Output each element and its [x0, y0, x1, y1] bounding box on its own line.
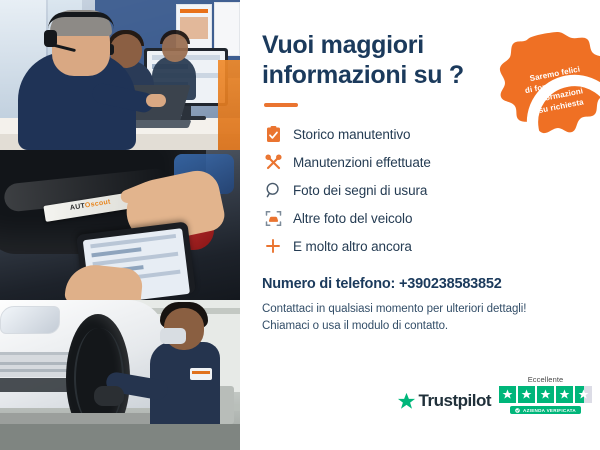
star-filled	[537, 386, 554, 403]
verified-business-badge: AZIENDA VERIFICATA	[510, 406, 581, 414]
phone-number[interactable]: +390238583852	[399, 276, 502, 292]
phone-label: Numero di telefono:	[262, 276, 395, 292]
car-scan-icon	[262, 210, 284, 227]
rating-label: Eccellente	[528, 375, 564, 384]
star-rating	[499, 386, 592, 403]
headline-line-2: informazioni su ?	[262, 61, 464, 89]
feature-label: Altre foto del veicolo	[293, 211, 412, 226]
star-filled	[499, 386, 516, 403]
trustpilot-brand-name: Trustpilot	[419, 391, 491, 411]
clipboard-check-icon	[262, 126, 284, 143]
title-underline-divider	[264, 103, 298, 107]
feature-label: E molto altro ancora	[293, 239, 412, 254]
feature-label: Storico manutentivo	[293, 127, 410, 142]
star-half	[575, 386, 592, 403]
star-filled	[518, 386, 535, 403]
photo-mechanic-inspecting-wheel-on-lift	[0, 300, 240, 450]
headlight	[0, 306, 60, 334]
crossed-tools-icon	[262, 154, 284, 171]
advertisement-card: AUTOscout	[0, 0, 600, 450]
photo-call-center-agents-with-headsets	[0, 0, 240, 150]
contact-subtext: Contattaci in qualsiasi momento per ulte…	[262, 301, 578, 335]
trustpilot-logo: Trustpilot	[397, 391, 491, 411]
photo-technician-measuring-car-bumper-with-tablet: AUTOscout	[0, 150, 240, 300]
workshop-floor	[0, 424, 240, 450]
content-panel: Vuoi maggiori informazioni su ? Saremo f…	[240, 0, 600, 450]
verified-label: AZIENDA VERIFICATA	[523, 408, 576, 413]
list-item: E molto altro ancora	[262, 232, 578, 260]
contact-subtext-line-2: Chiamaci o usa il modulo di contatto.	[262, 318, 578, 335]
magnifier-icon	[262, 182, 284, 198]
list-item: Altre foto del veicolo	[262, 204, 578, 232]
feature-label: Manutenzioni effettuate	[293, 155, 431, 170]
headline-line-1: Vuoi maggiori	[262, 31, 424, 59]
star-filled	[556, 386, 573, 403]
trustpilot-star-icon	[397, 392, 416, 411]
plus-icon	[262, 238, 284, 254]
contact-subtext-line-1: Contattaci in qualsiasi momento per ulte…	[262, 301, 578, 318]
trustpilot-widget[interactable]: Trustpilot Eccellente AZIENDA VERIFICA	[397, 375, 592, 414]
trustpilot-rating: Eccellente AZIENDA VERIFICATA	[499, 375, 592, 414]
agent-foreground-with-headset	[18, 52, 136, 150]
feature-label: Foto dei segni di usura	[293, 183, 427, 198]
front-grille	[0, 352, 76, 377]
phone-line: Numero di telefono: +390238583852	[262, 276, 578, 292]
callout-badge: Saremo felici di fornirti queste informa…	[498, 30, 600, 150]
photo-column: AUTOscout	[0, 0, 240, 450]
verified-check-icon	[515, 408, 520, 413]
page-title: Vuoi maggiori informazioni su ?	[262, 30, 477, 90]
orange-wall-accent	[218, 60, 240, 150]
